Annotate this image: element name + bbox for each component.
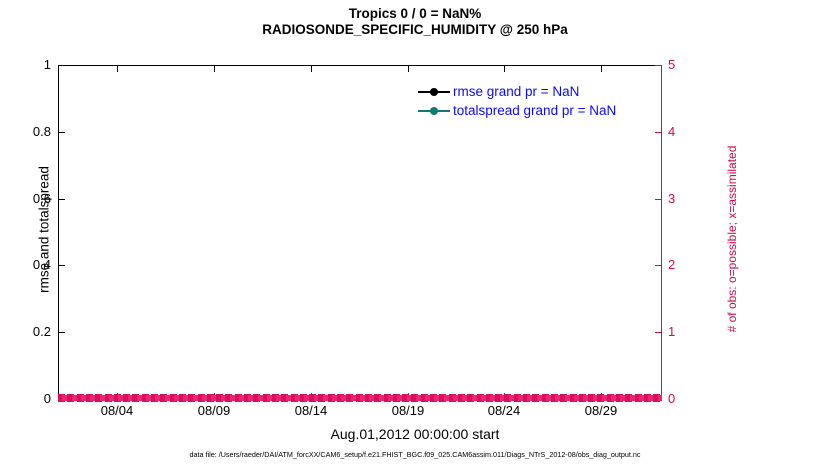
x-tick-bottom-0814 xyxy=(311,393,312,399)
x-tick-bottom-0804 xyxy=(117,393,118,399)
x-tick-bottom-0824 xyxy=(504,393,505,399)
y-axis-label-left-0: 0 xyxy=(5,391,51,406)
x-axis-title: Aug.01,2012 00:00:00 start xyxy=(0,426,830,442)
x-axis-label-0829: 08/29 xyxy=(566,403,636,418)
chart-title-line1: Tropics 0 / 0 = NaN% xyxy=(0,6,830,21)
chart-canvas: Tropics 0 / 0 = NaN% RADIOSONDE_SPECIFIC… xyxy=(0,0,830,470)
x-tick-bottom-0819 xyxy=(408,393,409,399)
legend-label-rmse: rmse grand pr = NaN xyxy=(453,84,579,99)
x-axis-label-0824: 08/24 xyxy=(469,403,539,418)
legend-entry-totalspread: totalspread grand pr = NaN xyxy=(418,101,616,120)
y-axis-label-left-1: 1 xyxy=(5,57,51,72)
y-axis-label-right-4: 4 xyxy=(668,124,698,139)
y-axis-label-right-5: 5 xyxy=(668,57,698,72)
y-tick-left-06 xyxy=(58,199,65,200)
x-tick-top-0824 xyxy=(504,65,505,72)
y-tick-left-04 xyxy=(58,265,65,266)
y-tick-left-08 xyxy=(58,132,65,133)
y-tick-left-02 xyxy=(58,332,65,333)
y-tick-right-0 xyxy=(655,399,662,400)
chart-legend: rmse grand pr = NaN totalspread grand pr… xyxy=(418,82,616,120)
y-axis-label-right-1: 1 xyxy=(668,324,698,339)
x-tick-bottom-0809 xyxy=(214,393,215,399)
legend-label-totalspread: totalspread grand pr = NaN xyxy=(453,103,616,118)
legend-entry-rmse: rmse grand pr = NaN xyxy=(418,82,616,101)
y-axis-label-right-0: 0 xyxy=(668,391,698,406)
y-axis-title-right: # of obs: o=possible; x=assimilated xyxy=(725,79,739,399)
x-tick-bottom-0829 xyxy=(601,393,602,399)
x-tick-top-0804 xyxy=(117,65,118,72)
x-tick-top-0809 xyxy=(214,65,215,72)
data-file-caption: data file: /Users/raeder/DAI/ATM_forcXX/… xyxy=(0,450,830,459)
x-tick-top-0819 xyxy=(408,65,409,72)
y-tick-right-5 xyxy=(655,65,662,66)
y-tick-right-4 xyxy=(655,132,662,133)
y-tick-right-3 xyxy=(655,199,662,200)
y-tick-left-1 xyxy=(58,65,65,66)
y-tick-left-0 xyxy=(58,399,65,400)
chart-title-line2: RADIOSONDE_SPECIFIC_HUMIDITY @ 250 hPa xyxy=(0,22,830,37)
x-axis-label-0819: 08/19 xyxy=(373,403,443,418)
y-tick-right-1 xyxy=(655,332,662,333)
x-axis-label-0804: 08/04 xyxy=(82,403,152,418)
legend-marker-totalspread-icon xyxy=(418,105,450,117)
x-axis-label-0809: 08/09 xyxy=(179,403,249,418)
x-axis-label-0814: 08/14 xyxy=(276,403,346,418)
y-axis-title-left: rmse and totalspread xyxy=(37,100,52,360)
y-axis-label-right-3: 3 xyxy=(668,191,698,206)
legend-marker-rmse-icon xyxy=(418,86,450,98)
x-tick-top-0814 xyxy=(311,65,312,72)
x-tick-top-0829 xyxy=(601,65,602,72)
y-tick-right-2 xyxy=(655,265,662,266)
y-axis-label-right-2: 2 xyxy=(668,257,698,272)
